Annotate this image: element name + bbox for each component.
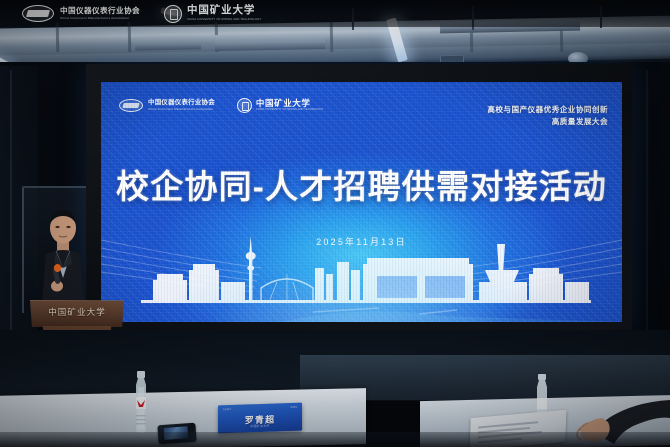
subtitle-line-1: 高校与国产仪器优秀企业协同创新 [487,104,608,116]
screen-event-date: 2025年11月13日 [101,235,622,248]
placard-left-tag: CUMT [223,408,231,411]
screen-cima-logo: 中国仪器仪表行业协会 China Instrument Manufacturer… [119,99,215,112]
duct-branch [135,35,201,50]
watermark-cumt-logo: 中国矿业大学 CHINA UNIVERSITY OF MINING AND TE… [164,5,262,23]
screen-main-title: 校企协同-人才招聘供需对接活动 [101,160,622,208]
watermark-bar: 中国仪器仪表行业协会 China Instrument Manufacturer… [0,0,670,27]
watermark-cima-cn: 中国仪器仪表行业协会 [60,7,140,15]
screen-city-skyline-graphic [101,212,622,322]
conference-photo-scene: 中国仪器仪表行业协会 China Instrument Manufacturer… [0,0,670,447]
led-screen: 中国仪器仪表行业协会 China Instrument Manufacturer… [101,82,622,322]
screen-conference-subtitle: 高校与国产仪器优秀企业协同创新 高质量发展大会 [487,104,608,128]
table-front-shadow [0,432,670,447]
watermark-cima-en: China Instrument Manufacturers Associati… [60,17,140,20]
water-bottle [130,371,152,434]
cumt-seal-icon [164,5,182,23]
subtitle-line-2: 高质量发展大会 [487,116,608,128]
cima-logo-icon [119,99,143,112]
name-placard: CUMT 2025 罗青超 中国矿业大学 [218,403,302,434]
screen-cumt-logo: 中国矿业大学 CHINA UNIVERSITY OF MINING AND TE… [237,98,324,113]
cima-name-en: China Instrument Manufacturers Associati… [148,108,215,111]
placard-header-row: CUMT 2025 [223,406,297,412]
cumt-name-en: CHINA UNIVERSITY OF MINING AND TECHNOLOG… [256,109,324,112]
watermark-cumt-en: CHINA UNIVERSITY OF MINING AND TECHNOLOG… [187,18,262,21]
wall-seam [646,70,648,360]
watermark-cima-logo: 中国仪器仪表行业协会 China Instrument Manufacturer… [22,5,140,22]
cima-logo-icon [22,5,54,22]
watermark-cumt-cn: 中国矿业大学 [187,5,262,17]
placard-right-tag: 2025 [290,406,297,409]
screen-logo-row: 中国仪器仪表行业协会 China Instrument Manufacturer… [119,98,323,113]
cumt-name-cn: 中国矿业大学 [256,99,324,108]
wall-seam [10,70,12,366]
duct-branch [215,33,325,51]
cumt-seal-icon [237,98,252,113]
lectern-university-label: 中国矿业大学 [28,306,126,318]
cima-name-cn: 中国仪器仪表行业协会 [148,100,215,107]
